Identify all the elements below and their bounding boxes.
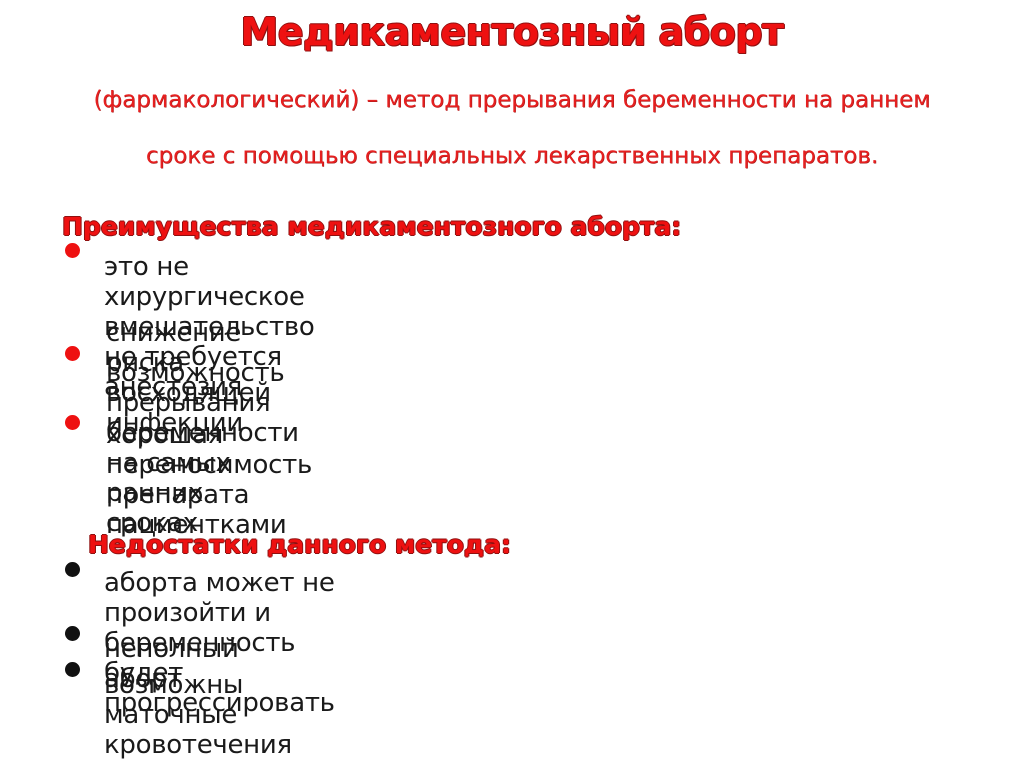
subtitle-line-2: сроке с помощью специальных лекарственны… [0,142,1024,170]
presentation-slide: Медикаментозный аборт (фармакологический… [0,0,1024,767]
list-item-label: хорошая переносимость препарата пациентк… [106,420,312,540]
filled-circle-bullet-icon [65,243,80,258]
advantages-heading: Преимущества медикаментозного аборта: [62,212,681,242]
filled-circle-bullet-icon [65,562,80,577]
filled-circle-bullet-icon [65,415,80,430]
filled-circle-bullet-icon [65,626,80,641]
filled-circle-bullet-icon [65,346,80,361]
list-item-label: возможны маточные кровотечения [104,670,292,760]
drawbacks-heading: Недостатки данного метода: [88,530,511,560]
filled-circle-bullet-icon [65,662,80,677]
page-title: Медикаментозный аборт [0,10,1024,54]
subtitle-line-1: (фармакологический) – метод прерывания б… [0,86,1024,114]
